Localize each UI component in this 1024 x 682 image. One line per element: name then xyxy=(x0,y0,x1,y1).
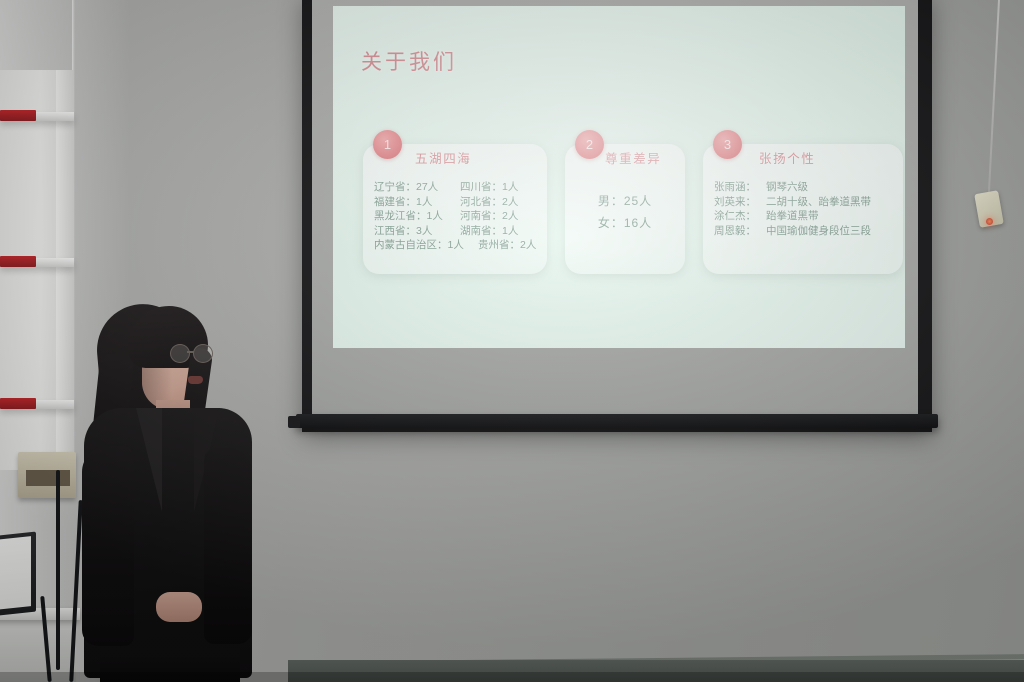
image-vignette xyxy=(0,0,1024,682)
screenshot-scene: 关于我们 1 五湖四海 辽宁省：27人四川省：1人 福建省：1人河北省：2人 黑… xyxy=(0,0,1024,682)
